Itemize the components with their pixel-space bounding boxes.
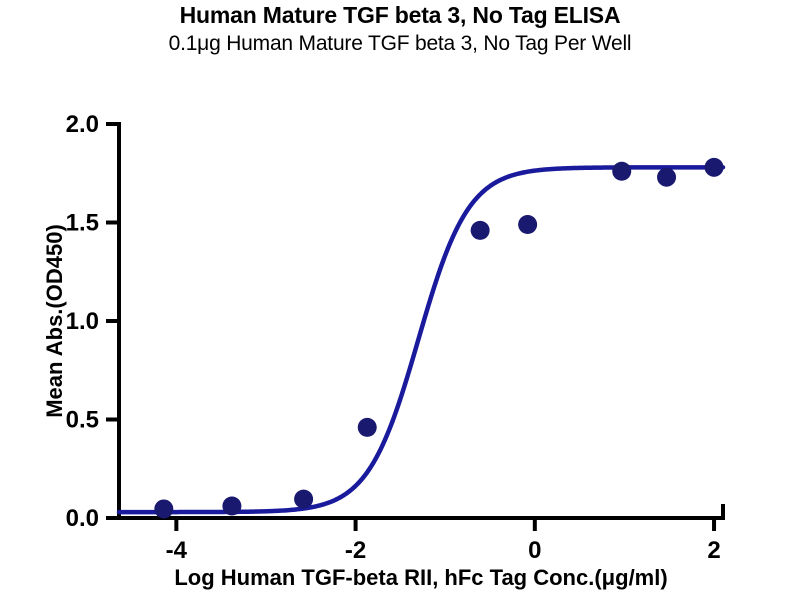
data-point xyxy=(358,418,377,437)
plot-area: 0.00.51.01.52.0 -4-202 Log Human TGF-bet… xyxy=(0,0,800,600)
data-point-markers xyxy=(154,158,723,519)
data-point xyxy=(705,158,724,177)
y-tick-label: 0.0 xyxy=(66,505,99,532)
data-point xyxy=(154,499,173,518)
x-axis-title: Log Human TGF-beta RII, hFc Tag Conc.(μg… xyxy=(174,565,667,590)
y-tick-label: 1.0 xyxy=(66,308,99,335)
data-point xyxy=(612,162,631,181)
sigmoid-fit-curve xyxy=(119,167,723,512)
axes xyxy=(119,124,723,518)
data-point xyxy=(657,168,676,187)
x-tick-label: -2 xyxy=(345,537,366,564)
y-tick-label: 2.0 xyxy=(66,111,99,138)
y-axis-title: Mean Abs.(OD450) xyxy=(42,224,67,418)
y-tick-label: 0.5 xyxy=(66,407,99,434)
x-tick-label: 0 xyxy=(528,537,541,564)
data-point xyxy=(471,221,490,240)
y-tick-label: 1.5 xyxy=(66,210,99,237)
x-tick-label: 2 xyxy=(707,537,720,564)
data-point xyxy=(222,496,241,515)
y-axis-ticks: 0.00.51.01.52.0 xyxy=(66,111,119,532)
chart-figure: Human Mature TGF beta 3, No Tag ELISA 0.… xyxy=(0,0,800,600)
x-tick-label: -4 xyxy=(166,537,188,564)
data-point xyxy=(294,490,313,509)
x-axis-ticks: -4-202 xyxy=(166,518,721,564)
data-point xyxy=(518,215,537,234)
